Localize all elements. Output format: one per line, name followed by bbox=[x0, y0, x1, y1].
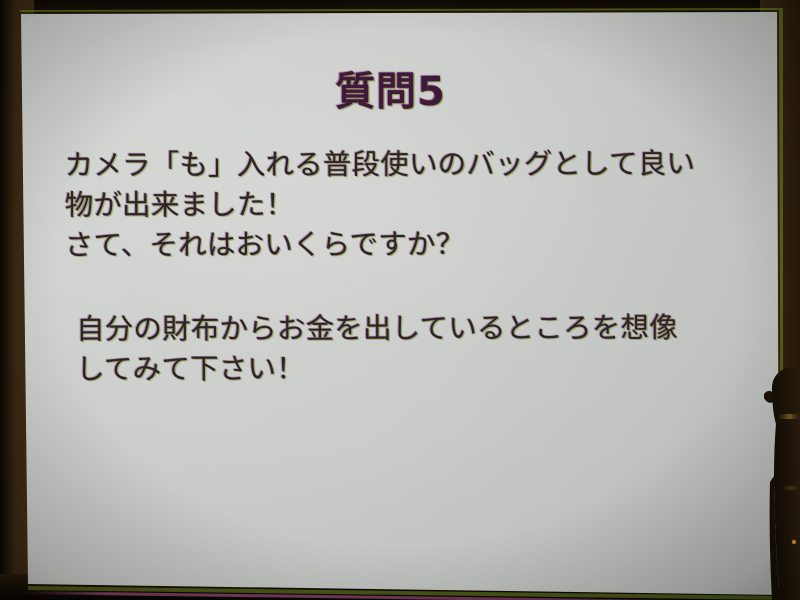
slide-content: 質問5 カメラ「も」入れる普段使いのバッグとして良い 物が出来ました！ さて、そ… bbox=[20, 13, 777, 587]
projected-slide-photo: 質問5 カメラ「も」入れる普段使いのバッグとして良い 物が出来ました！ さて、そ… bbox=[0, 0, 800, 600]
slide-paragraph-2: さて、それはおいくらですか？ bbox=[65, 224, 765, 266]
slide-title: 質問5 bbox=[20, 58, 760, 118]
slide-body: カメラ「も」入れる普段使いのバッグとして良い 物が出来ました！ さて、それはおい… bbox=[65, 144, 766, 390]
slide-paragraph-1: カメラ「も」入れる普段使いのバッグとして良い 物が出来ました！ bbox=[65, 144, 765, 226]
slide-line: してみて下さい！ bbox=[76, 348, 765, 390]
slide-line: さて、それはおいくらですか？ bbox=[65, 224, 765, 266]
slide-paragraph-3: 自分の財布からお金を出しているところを想像 してみて下さい！ bbox=[65, 308, 765, 390]
slide-line: 物が出来ました！ bbox=[65, 184, 765, 226]
slide-line: 自分の財布からお金を出しているところを想像 bbox=[76, 308, 765, 350]
paragraph-spacer bbox=[65, 264, 765, 310]
slide-line: カメラ「も」入れる普段使いのバッグとして良い bbox=[65, 144, 765, 186]
